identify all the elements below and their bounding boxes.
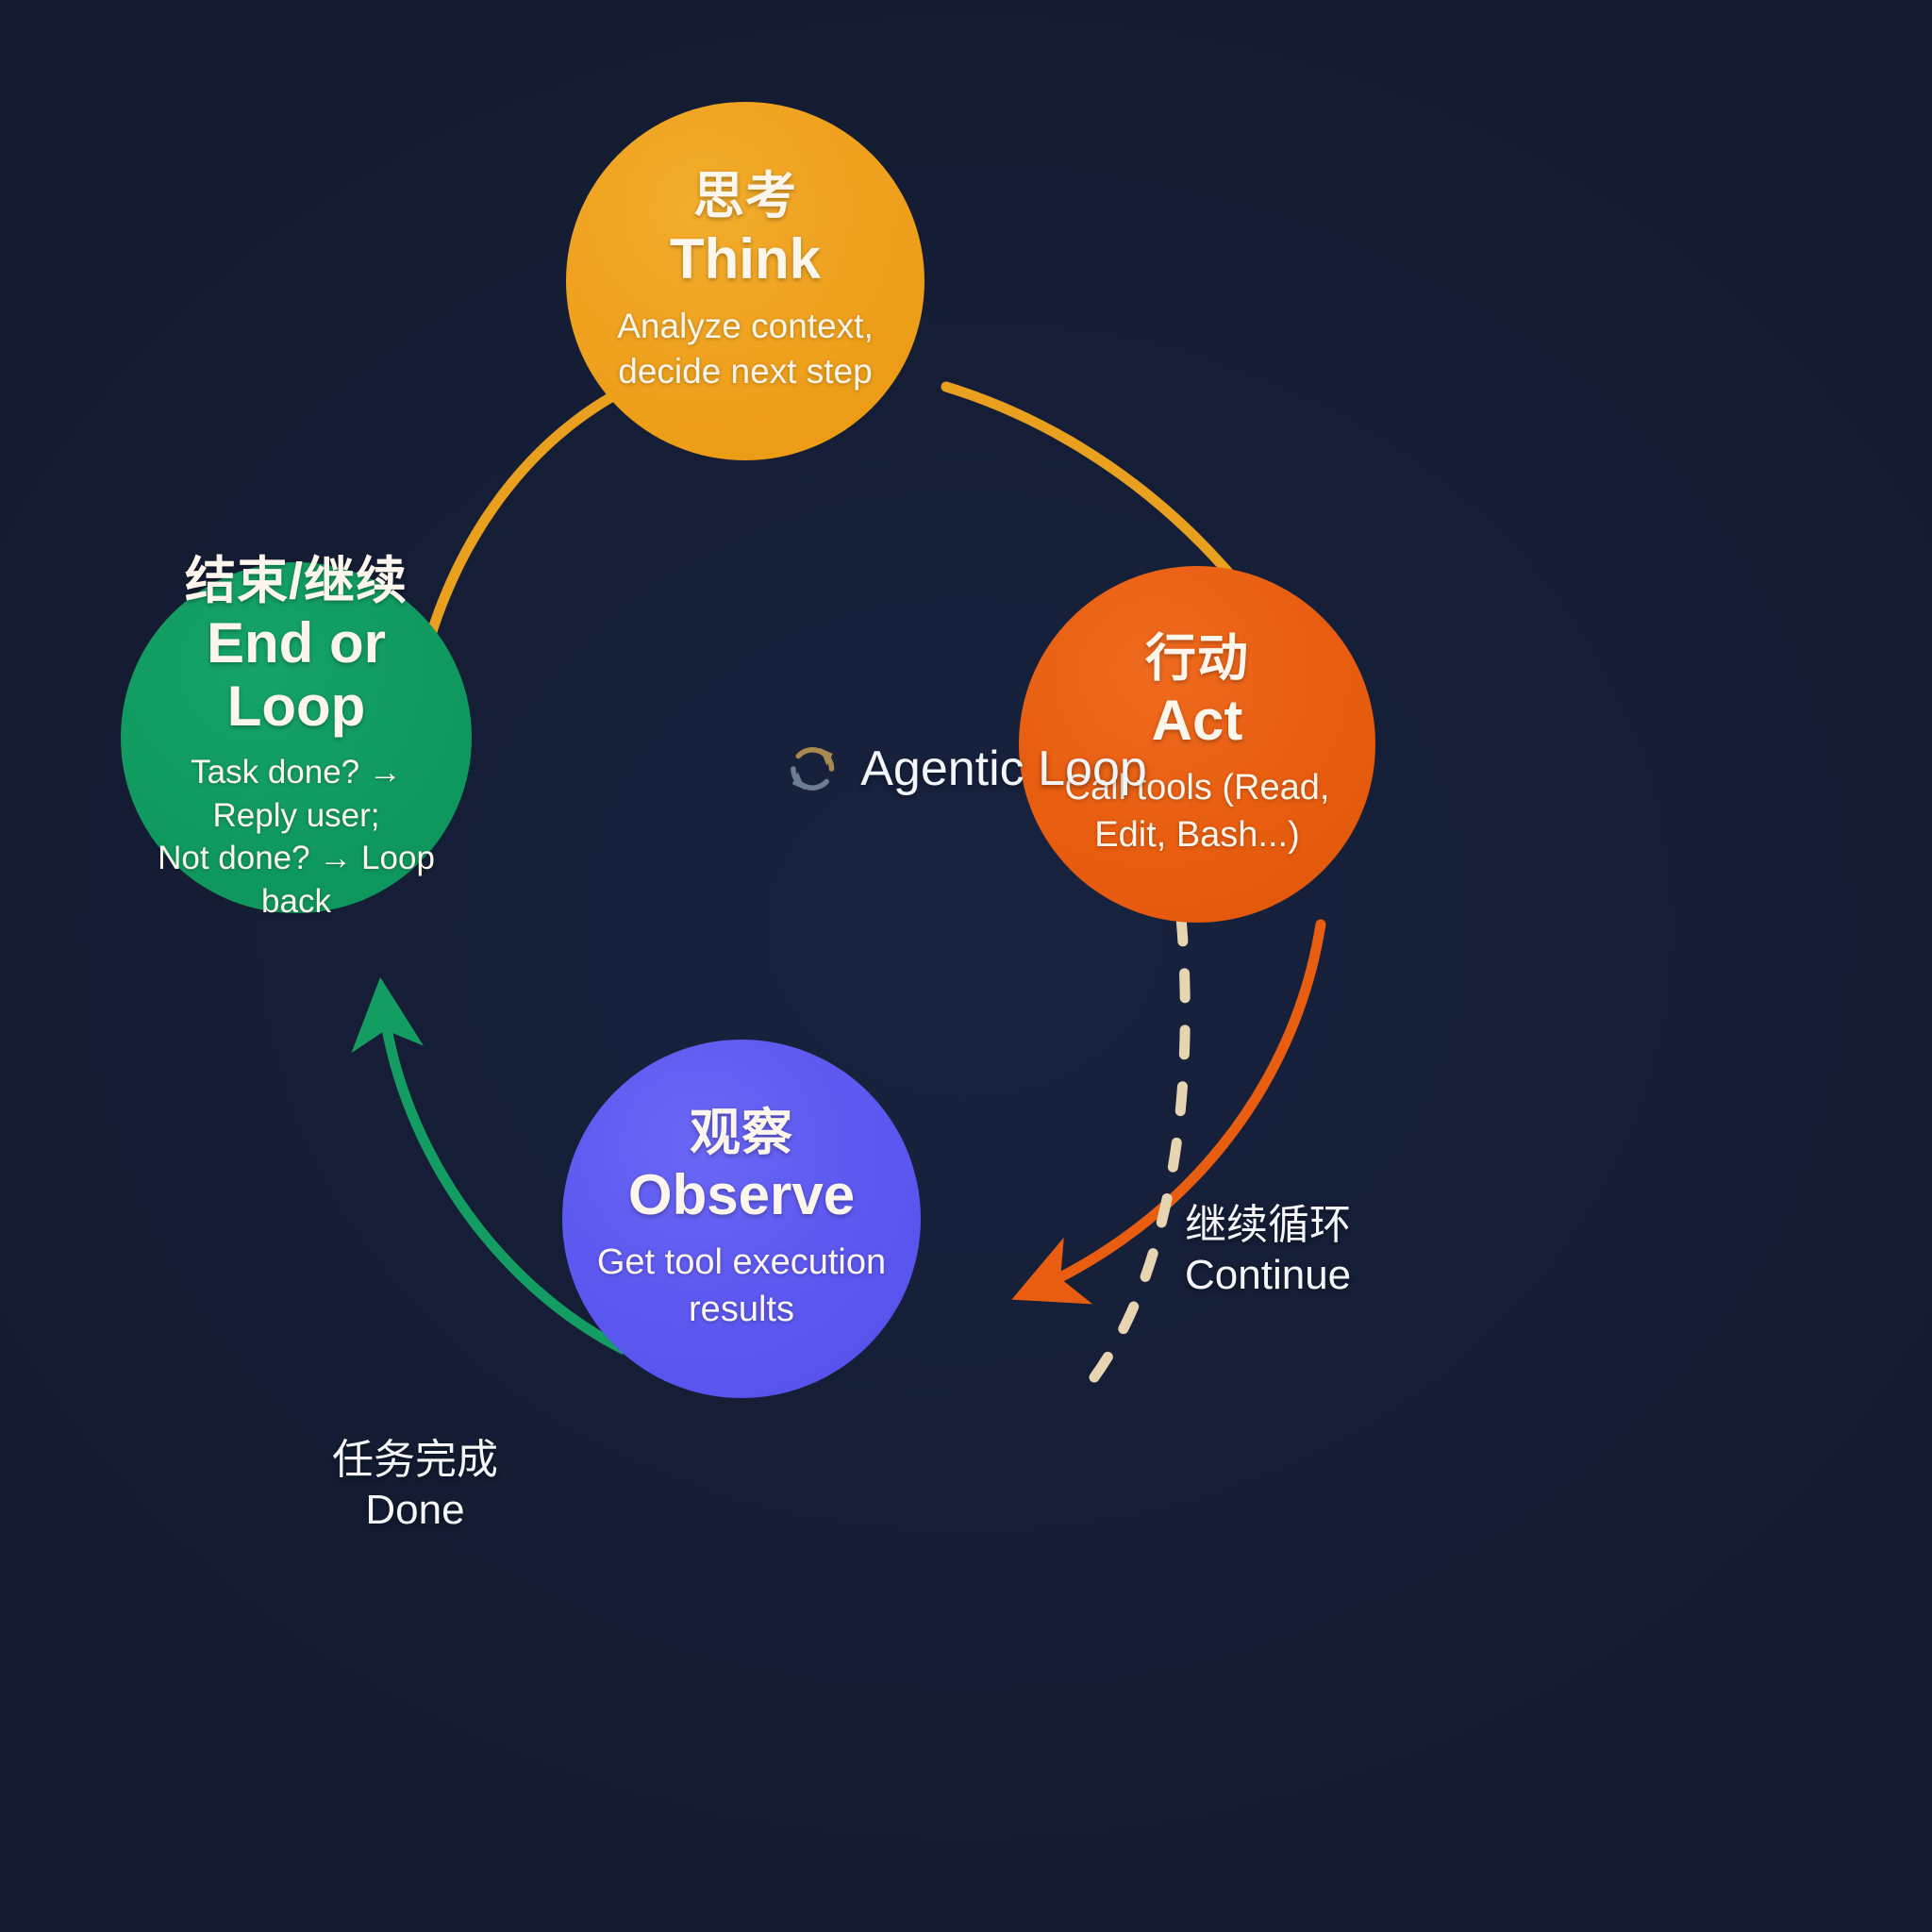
agentic-loop-diagram: 思考 Think Analyze context, decide next st… [0, 0, 1932, 1932]
node-think-desc-line2: decide next step [618, 352, 872, 391]
node-end-or-loop-desc-line1: Task done? → Reply user; [191, 754, 402, 834]
node-end-or-loop-title-en: End or Loop [145, 611, 447, 738]
node-act-desc-line2: Edit, Bash...) [1094, 815, 1300, 855]
node-act-title-en: Act [1152, 689, 1243, 752]
center-label: Agentic Loop [785, 741, 1147, 797]
node-think[interactable]: 思考 Think Analyze context, decide next st… [566, 102, 924, 460]
node-observe-title-en: Observe [628, 1163, 855, 1226]
edge-label-done-en: Done [332, 1486, 498, 1536]
node-act-title-cn: 行动 [1145, 630, 1249, 687]
node-think-desc-line1: Analyze context, [617, 307, 873, 345]
node-end-or-loop-desc-line2: Not done? → Loop back [158, 840, 435, 920]
node-observe-desc-line1: Get tool execution [597, 1242, 886, 1282]
refresh-loop-icon [785, 741, 840, 796]
node-end-or-loop-description: Task done? → Reply user; Not done? → Loo… [145, 751, 447, 923]
node-think-description: Analyze context, decide next step [617, 304, 873, 394]
node-end-or-loop[interactable]: 结束/继续 End or Loop Task done? → Reply use… [121, 562, 472, 913]
node-observe[interactable]: 观察 Observe Get tool execution results [562, 1040, 921, 1398]
edge-label-continue-cn: 继续循环 [1185, 1201, 1351, 1251]
node-think-title-en: Think [670, 227, 821, 291]
edge-label-continue-en: Continue [1185, 1251, 1351, 1301]
edge-label-continue: 继续循环 Continue [1185, 1201, 1351, 1301]
node-observe-title-cn: 观察 [690, 1105, 793, 1161]
edge-label-done-cn: 任务完成 [332, 1436, 498, 1486]
center-label-text: Agentic Loop [860, 741, 1147, 797]
node-observe-description: Get tool execution results [597, 1240, 886, 1333]
edge-label-done: 任务完成 Done [332, 1436, 498, 1536]
node-observe-desc-line2: results [689, 1290, 794, 1329]
node-think-title-cn: 思考 [693, 168, 797, 225]
node-end-or-loop-title-cn: 结束/继续 [185, 553, 408, 609]
edge-layer [0, 0, 1932, 1932]
